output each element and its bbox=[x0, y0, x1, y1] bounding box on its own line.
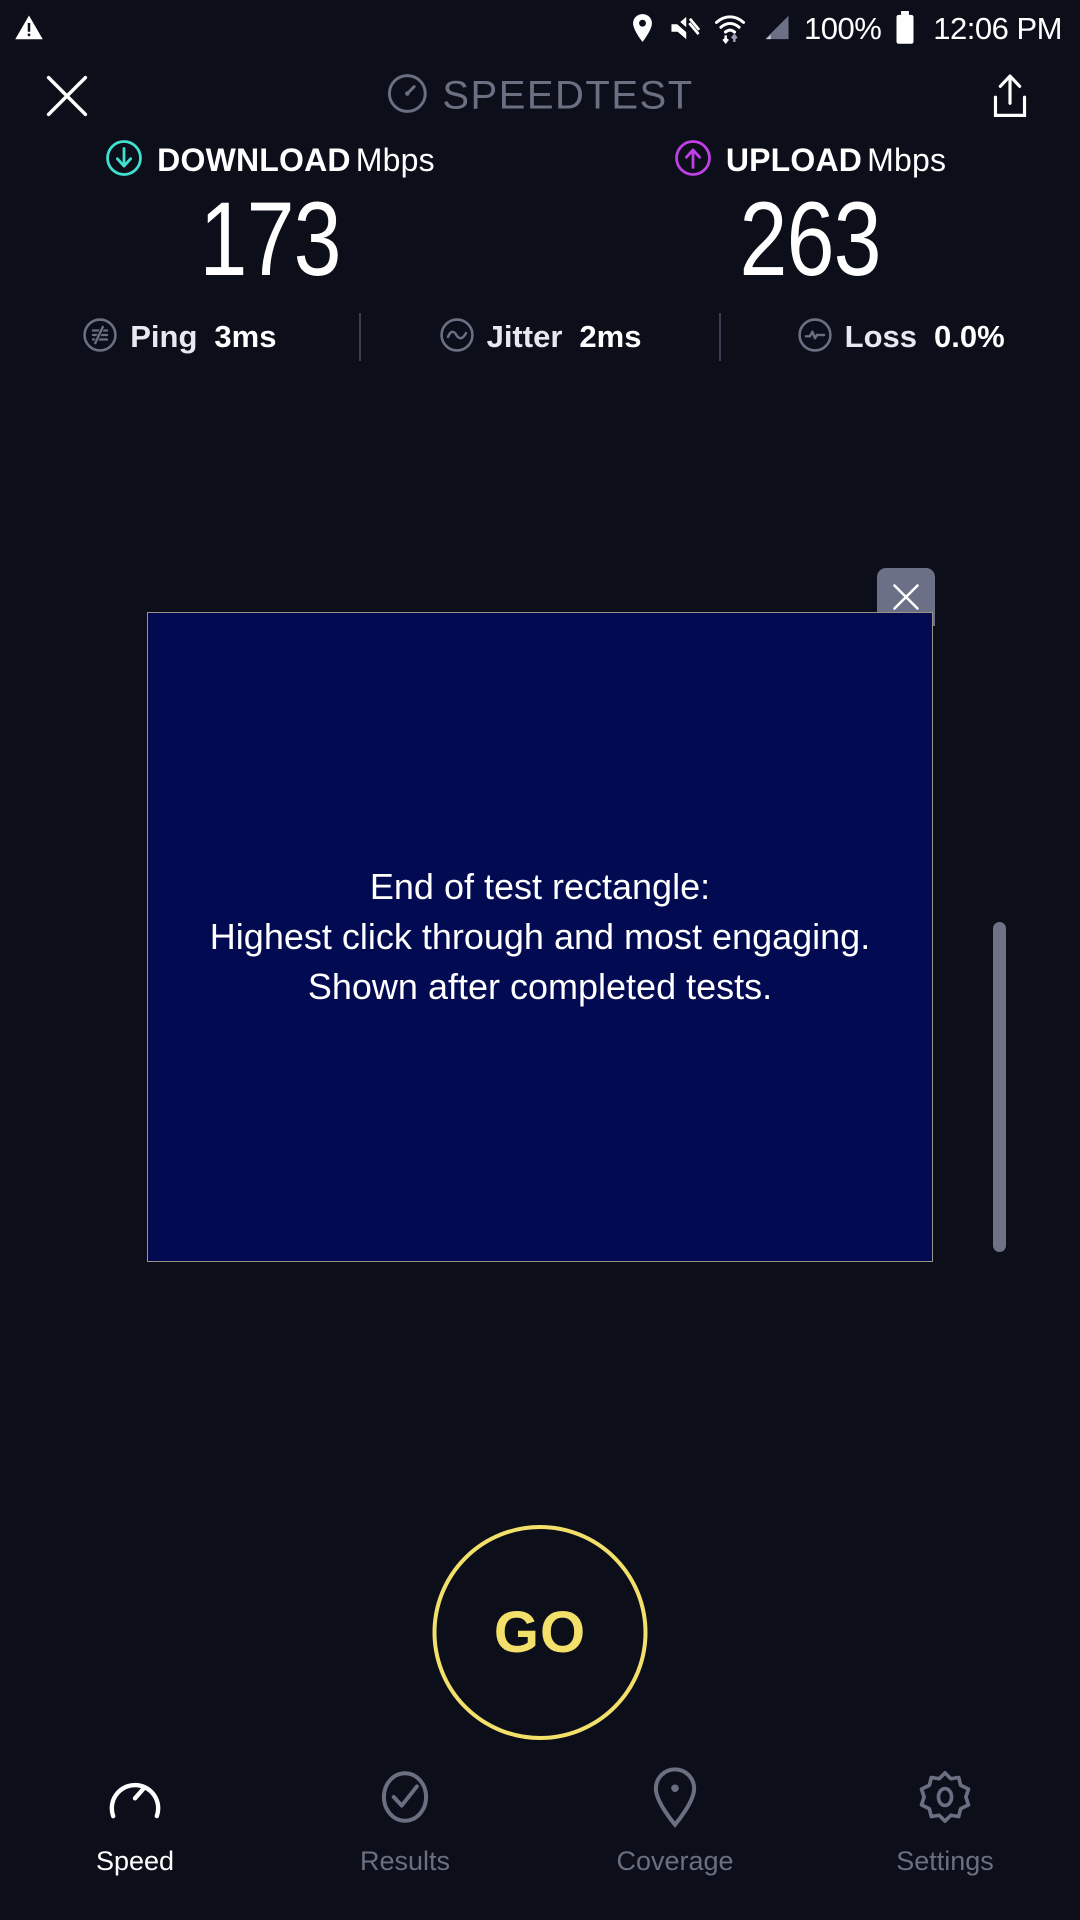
brand: SPEEDTEST bbox=[386, 73, 693, 120]
jitter-value: 2ms bbox=[579, 319, 641, 355]
check-circle-icon bbox=[376, 1766, 434, 1828]
go-button-label: GO bbox=[494, 1599, 586, 1666]
nav-label-coverage: Coverage bbox=[616, 1846, 733, 1877]
battery-full-icon bbox=[894, 11, 916, 45]
ping-icon bbox=[82, 317, 118, 358]
ad-text-line-2: Highest click through and most engaging. bbox=[210, 912, 870, 962]
nav-label-results: Results bbox=[360, 1846, 450, 1877]
speedometer-icon bbox=[105, 1766, 165, 1828]
upload-value: 263 bbox=[739, 186, 880, 293]
speedometer-icon bbox=[386, 73, 428, 120]
share-button[interactable] bbox=[982, 65, 1038, 127]
loss-icon bbox=[797, 317, 833, 358]
speedtest-app-screen: 100% 12:06 PM SP bbox=[0, 0, 1080, 1920]
bottom-navigation-bar: Speed Results Coverage bbox=[0, 1750, 1080, 1920]
metric-loss: Loss 0.0% bbox=[721, 317, 1080, 358]
wifi-icon bbox=[714, 12, 746, 44]
advertisement-banner[interactable]: End of test rectangle: Highest click thr… bbox=[147, 612, 933, 1262]
ping-label: Ping bbox=[130, 319, 197, 355]
battery-percent-label: 100% bbox=[804, 13, 881, 44]
speed-results-row: DOWNLOADMbps 173 UPLOADMbps bbox=[0, 136, 1080, 293]
jitter-icon bbox=[439, 317, 475, 358]
ad-text: End of test rectangle: Highest click thr… bbox=[198, 862, 882, 1011]
scrollbar-thumb[interactable] bbox=[993, 922, 1006, 1252]
volume-muted-icon bbox=[669, 13, 701, 43]
download-label-text: DOWNLOAD bbox=[157, 142, 351, 178]
system-status-bar: 100% 12:06 PM bbox=[0, 0, 1080, 56]
nav-label-settings: Settings bbox=[896, 1846, 994, 1877]
jitter-label: Jitter bbox=[487, 319, 563, 355]
location-pin-icon bbox=[629, 13, 656, 43]
metrics-row: Ping 3ms Jitter 2ms bbox=[0, 302, 1080, 372]
nav-item-coverage[interactable]: Coverage bbox=[540, 1766, 810, 1877]
upload-label-row: UPLOADMbps bbox=[674, 136, 946, 184]
nav-item-speed[interactable]: Speed bbox=[0, 1766, 270, 1877]
close-button[interactable] bbox=[36, 65, 98, 127]
loss-label: Loss bbox=[845, 319, 917, 355]
ping-value: 3ms bbox=[214, 319, 276, 355]
download-unit: Mbps bbox=[356, 142, 435, 178]
download-result: DOWNLOADMbps 173 bbox=[0, 136, 540, 293]
app-title: SPEEDTEST bbox=[442, 74, 693, 119]
gear-icon bbox=[915, 1766, 975, 1828]
nav-item-settings[interactable]: Settings bbox=[810, 1766, 1080, 1877]
upload-label: UPLOADMbps bbox=[726, 142, 946, 179]
nav-item-results[interactable]: Results bbox=[270, 1766, 540, 1877]
download-value: 173 bbox=[199, 186, 340, 293]
results-panel: DOWNLOADMbps 173 UPLOADMbps bbox=[0, 136, 1080, 293]
nav-label-speed: Speed bbox=[96, 1846, 174, 1877]
advertisement-container: End of test rectangle: Highest click thr… bbox=[147, 612, 933, 1262]
upload-unit: Mbps bbox=[867, 142, 946, 178]
arrow-up-circle-icon bbox=[674, 139, 712, 182]
upload-label-text: UPLOAD bbox=[726, 142, 862, 178]
app-header: SPEEDTEST bbox=[0, 56, 1080, 136]
metric-ping: Ping 3ms bbox=[0, 317, 359, 358]
loss-value: 0.0% bbox=[934, 319, 1005, 355]
status-bar-right-icons: 100% 12:06 PM bbox=[629, 11, 1062, 45]
map-pin-icon bbox=[649, 1766, 701, 1828]
ad-text-line-3: Shown after completed tests. bbox=[210, 962, 870, 1012]
ad-text-line-1: End of test rectangle: bbox=[210, 862, 870, 912]
warning-triangle-icon bbox=[14, 13, 44, 43]
download-label: DOWNLOADMbps bbox=[157, 142, 435, 179]
cellular-signal-icon bbox=[759, 13, 791, 43]
download-label-row: DOWNLOADMbps bbox=[105, 136, 435, 184]
go-button[interactable]: GO bbox=[433, 1525, 648, 1740]
metric-jitter: Jitter 2ms bbox=[361, 317, 720, 358]
upload-result: UPLOADMbps 263 bbox=[540, 136, 1080, 293]
status-bar-clock: 12:06 PM bbox=[933, 13, 1062, 44]
status-bar-left-icons bbox=[14, 13, 44, 43]
arrow-down-circle-icon bbox=[105, 139, 143, 182]
